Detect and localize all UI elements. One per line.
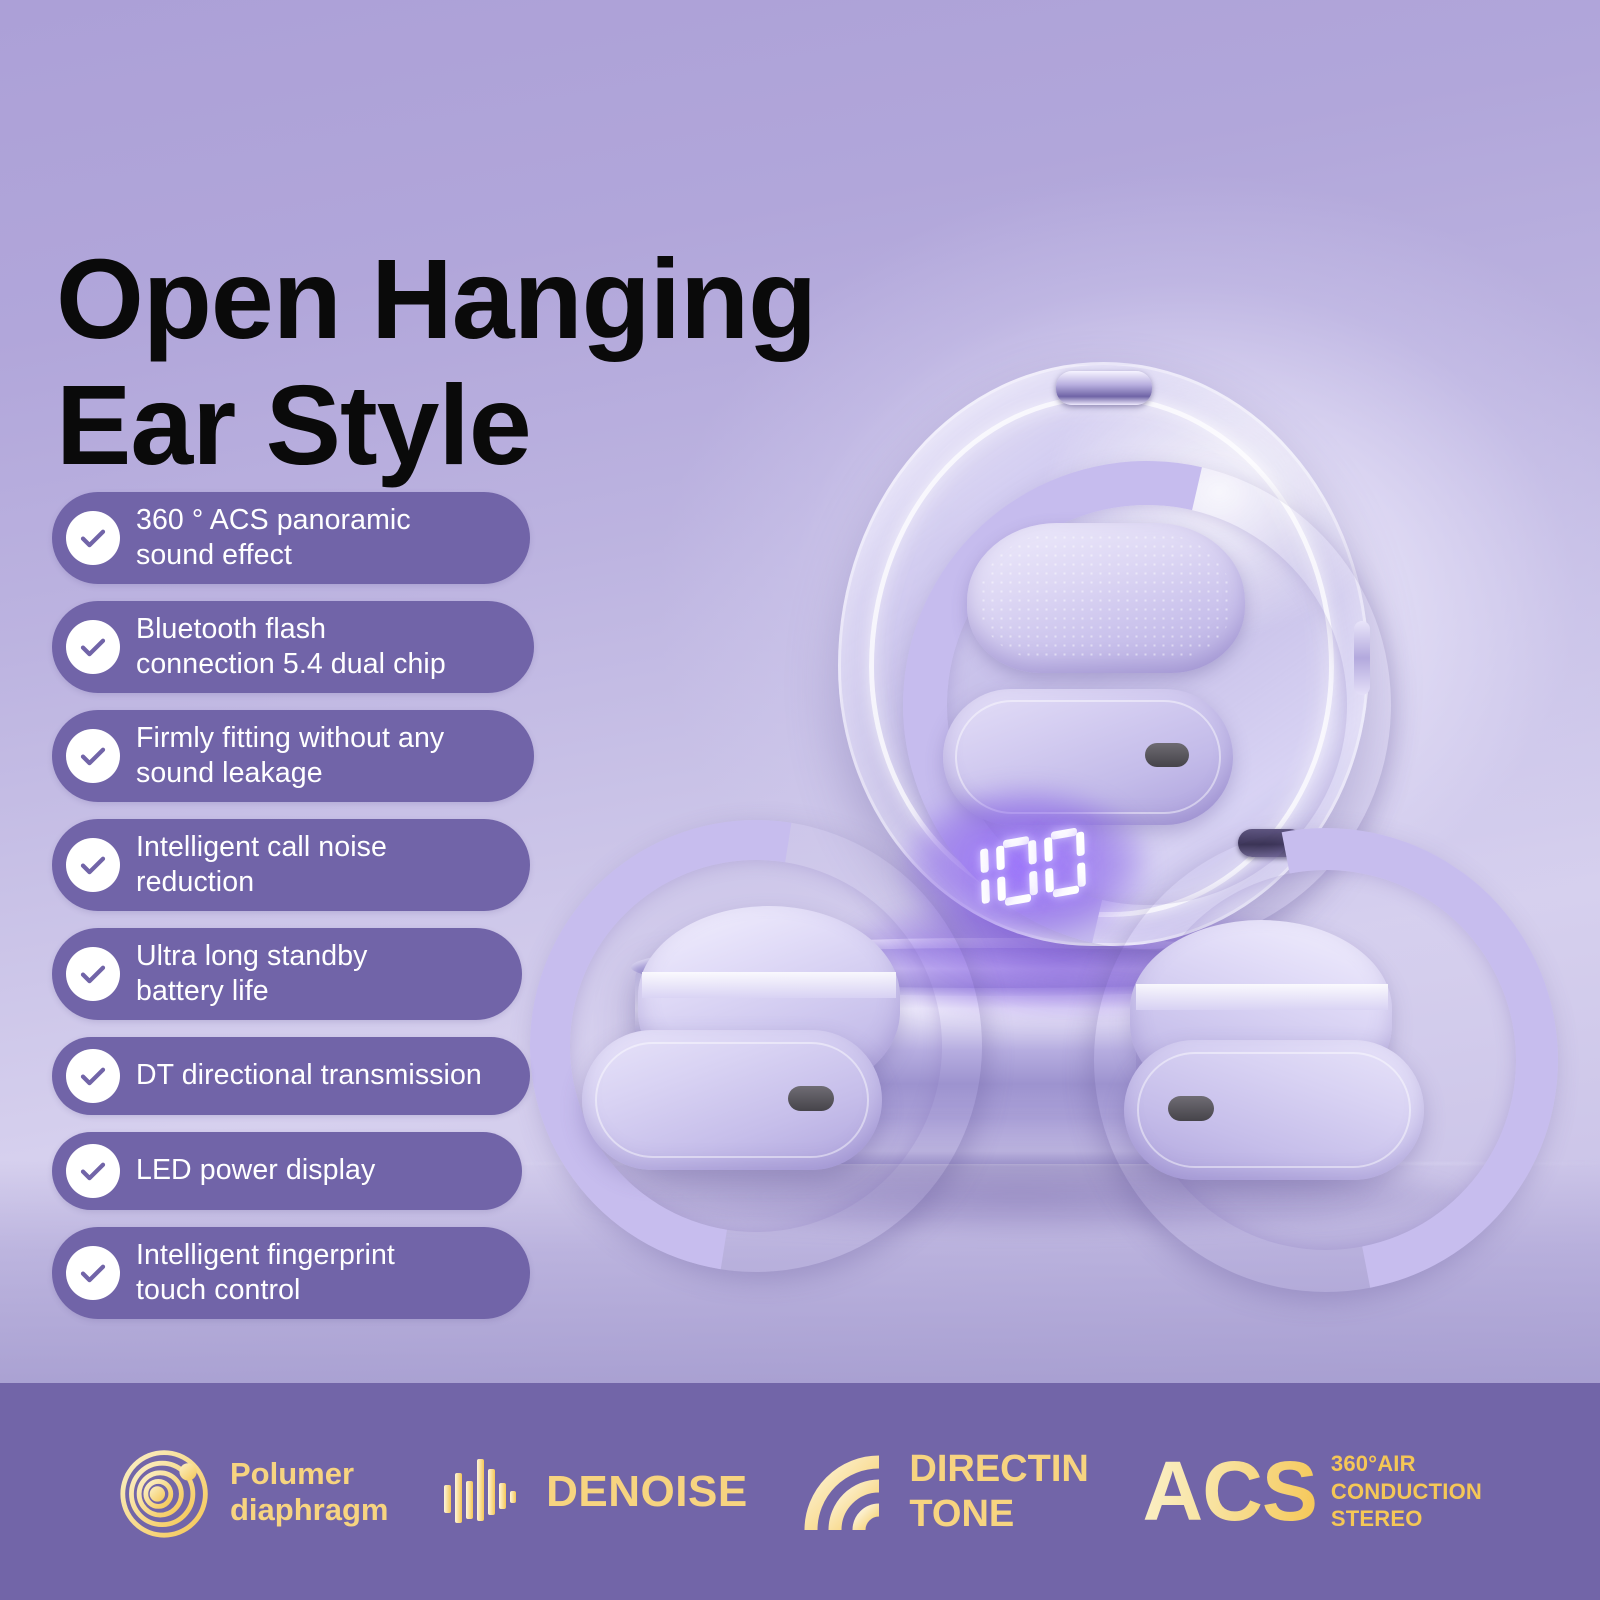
- signal-arcs-icon: [801, 1452, 893, 1532]
- feature-item-noise-reduction[interactable]: Intelligent call noise reduction: [52, 819, 530, 911]
- badge-label: DENOISE: [546, 1466, 748, 1517]
- feature-label: Intelligent call noise reduction: [136, 830, 387, 901]
- badge-directin-tone: DIRECTIN TONE: [801, 1447, 1088, 1535]
- feature-label: 360 ° ACS panoramic sound effect: [136, 503, 411, 574]
- check-circle-icon: [66, 729, 120, 783]
- badge-row: Polumer diaphragm: [0, 1444, 1600, 1540]
- status-led-indicator: [1168, 1096, 1214, 1121]
- check-circle-icon: [66, 838, 120, 892]
- product-poster: Open Hanging Ear Style: [0, 0, 1600, 1600]
- earbud-body: [1124, 1040, 1424, 1180]
- acs-sub-line-1: 360°AIR: [1331, 1451, 1416, 1476]
- badge-polymer-diaphragm: Polumer diaphragm: [118, 1444, 388, 1540]
- check-circle-icon: [66, 947, 120, 1001]
- badge-label: DIRECTIN TONE: [909, 1447, 1088, 1535]
- check-circle-icon: [66, 1246, 120, 1300]
- feature-item-panoramic-sound[interactable]: 360 ° ACS panoramic sound effect: [52, 492, 530, 584]
- badge-acs: ACS 360°AIR CONDUCTION STEREO: [1143, 1450, 1482, 1533]
- acs-wordmark: ACS: [1143, 1453, 1317, 1530]
- feature-item-touch-control[interactable]: Intelligent fingerprint touch control: [52, 1227, 530, 1319]
- speaker-driver: [967, 523, 1245, 673]
- feature-item-bluetooth[interactable]: Bluetooth flash connection 5.4 dual chip: [52, 601, 534, 693]
- badge-label: Polumer diaphragm: [230, 1456, 388, 1528]
- led-digit: [996, 835, 1038, 908]
- badge-line-1: Polumer: [230, 1456, 354, 1491]
- acs-sub-line-2: CONDUCTION: [1331, 1479, 1482, 1504]
- feature-label: Intelligent fingerprint touch control: [136, 1238, 395, 1309]
- check-circle-icon: [66, 620, 120, 674]
- check-circle-icon: [66, 1144, 120, 1198]
- feature-item-sound-leakage[interactable]: Firmly fitting without any sound leakage: [52, 710, 534, 802]
- check-circle-icon: [66, 1049, 120, 1103]
- acs-subtext: 360°AIR CONDUCTION STEREO: [1331, 1450, 1482, 1533]
- status-led-indicator: [788, 1086, 834, 1111]
- waveform-bars-icon: [442, 1455, 530, 1529]
- footer-badge-strip: Polumer diaphragm: [0, 1383, 1600, 1600]
- badge-line-1: DIRECTIN: [909, 1448, 1088, 1490]
- led-digit: [948, 843, 990, 916]
- status-led-indicator: [1145, 743, 1189, 767]
- badge-line-2: diaphragm: [230, 1492, 388, 1527]
- badge-denoise: DENOISE: [442, 1455, 748, 1529]
- badge-line-2: TONE: [909, 1493, 1014, 1535]
- concentric-rings-icon: [118, 1444, 214, 1540]
- feature-label: Ultra long standby battery life: [136, 939, 368, 1010]
- feature-item-led-display[interactable]: LED power display: [52, 1132, 522, 1210]
- acs-sub-line-3: STEREO: [1331, 1506, 1423, 1531]
- earbud-right: [1078, 828, 1498, 1218]
- driver-highlight-band: [642, 972, 896, 998]
- feature-label: DT directional transmission: [136, 1058, 482, 1093]
- feature-item-battery-life[interactable]: Ultra long standby battery life: [52, 928, 522, 1020]
- driver-mesh-texture: [979, 533, 1233, 659]
- feature-item-dt-transmission[interactable]: DT directional transmission: [52, 1037, 530, 1115]
- lid-hinge: [1056, 371, 1152, 405]
- check-circle-icon: [66, 511, 120, 565]
- earbud-body: [582, 1030, 882, 1170]
- feature-list: 360 ° ACS panoramic sound effect Bluetoo…: [52, 492, 592, 1336]
- feature-label: Firmly fitting without any sound leakage: [136, 721, 444, 792]
- product-image: [430, 330, 1600, 1270]
- feature-label: LED power display: [136, 1153, 375, 1188]
- feature-label: Bluetooth flash connection 5.4 dual chip: [136, 612, 446, 683]
- driver-highlight-band: [1136, 984, 1388, 1010]
